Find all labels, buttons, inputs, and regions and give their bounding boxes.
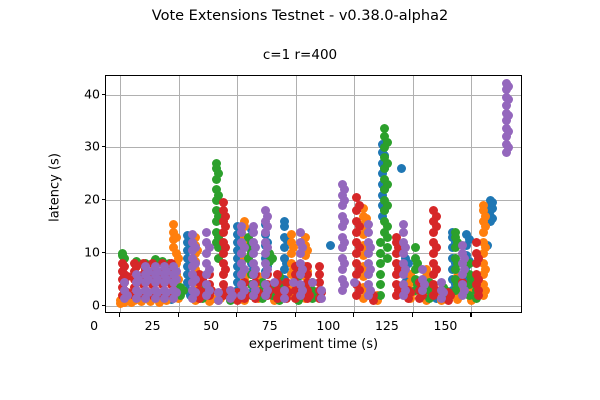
- scatter-point: [432, 212, 441, 221]
- scatter-point: [263, 222, 272, 231]
- scatter-point: [474, 291, 483, 300]
- x-tick-label: 100: [303, 318, 353, 333]
- x-tick-label: 125: [362, 318, 412, 333]
- scatter-point: [383, 159, 392, 168]
- scatter-point: [172, 275, 181, 284]
- scatter-point: [350, 278, 359, 287]
- scatter-point: [355, 265, 364, 274]
- scatter-point: [411, 243, 420, 252]
- scatter-point: [263, 212, 272, 221]
- figure-canvas: Vote Extensions Testnet - v0.38.0-alpha2…: [0, 0, 600, 400]
- gridline-horizontal: [106, 95, 521, 96]
- x-tick-label: 75: [245, 318, 295, 333]
- scatter-point: [432, 265, 441, 274]
- scatter-point: [366, 265, 375, 274]
- scatter-point: [432, 243, 441, 252]
- y-tick-label: 20: [60, 192, 100, 207]
- scatter-point: [504, 143, 513, 152]
- scatter-point: [355, 286, 364, 295]
- scatter-point: [401, 243, 410, 252]
- scatter-point: [376, 270, 385, 279]
- scatter-point: [340, 196, 349, 205]
- scatter-point: [298, 265, 307, 274]
- scatter-point: [221, 222, 230, 231]
- scatter-point: [458, 241, 467, 250]
- scatter-point: [287, 230, 296, 239]
- scatter-point: [308, 278, 317, 287]
- scatter-point: [401, 286, 410, 295]
- scatter-point: [376, 280, 385, 289]
- x-tick-mark: [236, 313, 237, 317]
- scatter-point: [221, 243, 230, 252]
- scatter-point: [172, 233, 181, 242]
- y-tick-label: 40: [60, 86, 100, 101]
- scatter-point: [340, 280, 349, 289]
- scatter-point: [221, 265, 230, 274]
- x-tick-label: 50: [186, 318, 236, 333]
- scatter-point: [172, 267, 181, 276]
- x-axis-label: experiment time (s): [105, 337, 522, 352]
- scatter-point: [383, 180, 392, 189]
- scatter-point: [340, 259, 349, 268]
- scatter-point: [474, 254, 483, 263]
- scatter-point: [504, 127, 513, 136]
- scatter-point: [205, 265, 214, 274]
- scatter-point: [460, 265, 469, 274]
- scatter-point: [191, 275, 200, 284]
- y-tick-mark: [102, 146, 106, 147]
- scatter-point: [169, 220, 178, 229]
- y-tick-label: 30: [60, 139, 100, 154]
- scatter-point: [315, 270, 324, 279]
- scatter-point: [366, 286, 375, 295]
- scatter-point: [240, 265, 249, 274]
- scatter-point: [355, 201, 364, 210]
- scatter-point: [123, 291, 132, 300]
- scatter-point: [364, 228, 373, 237]
- scatter-point: [280, 286, 289, 295]
- scatter-point: [191, 259, 200, 268]
- scatter-point: [472, 238, 481, 247]
- scatter-point: [383, 222, 392, 231]
- scatter-point: [418, 265, 427, 274]
- scatter-point: [263, 265, 272, 274]
- gridline-horizontal: [106, 147, 521, 148]
- scatter-point: [380, 124, 389, 133]
- scatter-point: [383, 201, 392, 210]
- scatter-point: [479, 201, 488, 210]
- scatter-point: [240, 286, 249, 295]
- scatter-point: [364, 220, 373, 229]
- scatter-point: [280, 217, 289, 226]
- scatter-point: [298, 286, 307, 295]
- scatter-point: [504, 82, 513, 91]
- scatter-point: [191, 288, 200, 297]
- y-axis-label: latency (s): [48, 128, 63, 248]
- y-tick-label: 0: [60, 298, 100, 313]
- scatter-point: [296, 228, 305, 237]
- y-tick-label: 10: [60, 245, 100, 260]
- scatter-point: [315, 262, 324, 271]
- scatter-point: [366, 243, 375, 252]
- x-tick-mark: [119, 313, 120, 317]
- scatter-point: [481, 212, 490, 221]
- scatter-point: [202, 228, 211, 237]
- scatter-point: [383, 233, 392, 242]
- scatter-point: [481, 222, 490, 231]
- scatter-point: [481, 265, 490, 274]
- x-tick-mark: [412, 313, 413, 317]
- x-tick-mark: [295, 313, 296, 317]
- x-tick-mark: [470, 313, 471, 317]
- scatter-point: [191, 243, 200, 252]
- scatter-point: [214, 169, 223, 178]
- x-tick-mark: [178, 313, 179, 317]
- scatter-point: [504, 95, 513, 104]
- scatter-point: [504, 111, 513, 120]
- scatter-point: [397, 164, 406, 173]
- scatter-point: [383, 138, 392, 147]
- scatter-point: [270, 278, 279, 287]
- x-tick-label: 0: [69, 318, 119, 333]
- scatter-point: [280, 294, 289, 303]
- scatter-point: [340, 217, 349, 226]
- scatter-point: [120, 278, 129, 287]
- scatter-point: [326, 241, 335, 250]
- scatter-point: [205, 243, 214, 252]
- scatter-point: [317, 294, 326, 303]
- scatter-point: [451, 228, 460, 237]
- scatter-point: [383, 243, 392, 252]
- scatter-point: [340, 185, 349, 194]
- scatter-point: [437, 278, 446, 287]
- scatter-point: [251, 265, 260, 274]
- y-tick-mark: [102, 199, 106, 200]
- scatter-point: [120, 262, 129, 271]
- scatter-point: [228, 291, 237, 300]
- scatter-point: [481, 243, 490, 252]
- scatter-point: [460, 286, 469, 295]
- plot-area: [105, 75, 522, 313]
- gridline-horizontal: [106, 200, 521, 201]
- x-tick-label: 25: [128, 318, 178, 333]
- scatter-point: [355, 243, 364, 252]
- y-tick-mark: [102, 94, 106, 95]
- scatter-point: [205, 286, 214, 295]
- scatter-point: [251, 243, 260, 252]
- x-tick-mark: [353, 313, 354, 317]
- scatter-point: [214, 296, 223, 305]
- scatter-point: [221, 212, 230, 221]
- gridline-horizontal: [106, 306, 521, 307]
- x-axis-ticks: 0255075100125150: [0, 318, 600, 338]
- x-tick-label: 150: [420, 318, 470, 333]
- y-tick-mark: [102, 305, 106, 306]
- scatter-point: [399, 220, 408, 229]
- scatter-point: [460, 254, 469, 263]
- scatter-point: [399, 228, 408, 237]
- scatter-point: [212, 159, 221, 168]
- y-tick-mark: [102, 252, 106, 253]
- scatter-point: [383, 254, 392, 263]
- scatter-point: [263, 286, 272, 295]
- scatter-point: [317, 286, 326, 295]
- scatter-point: [432, 222, 441, 231]
- scatter-point: [340, 238, 349, 247]
- scatter-point: [355, 222, 364, 231]
- scatter-point: [401, 265, 410, 274]
